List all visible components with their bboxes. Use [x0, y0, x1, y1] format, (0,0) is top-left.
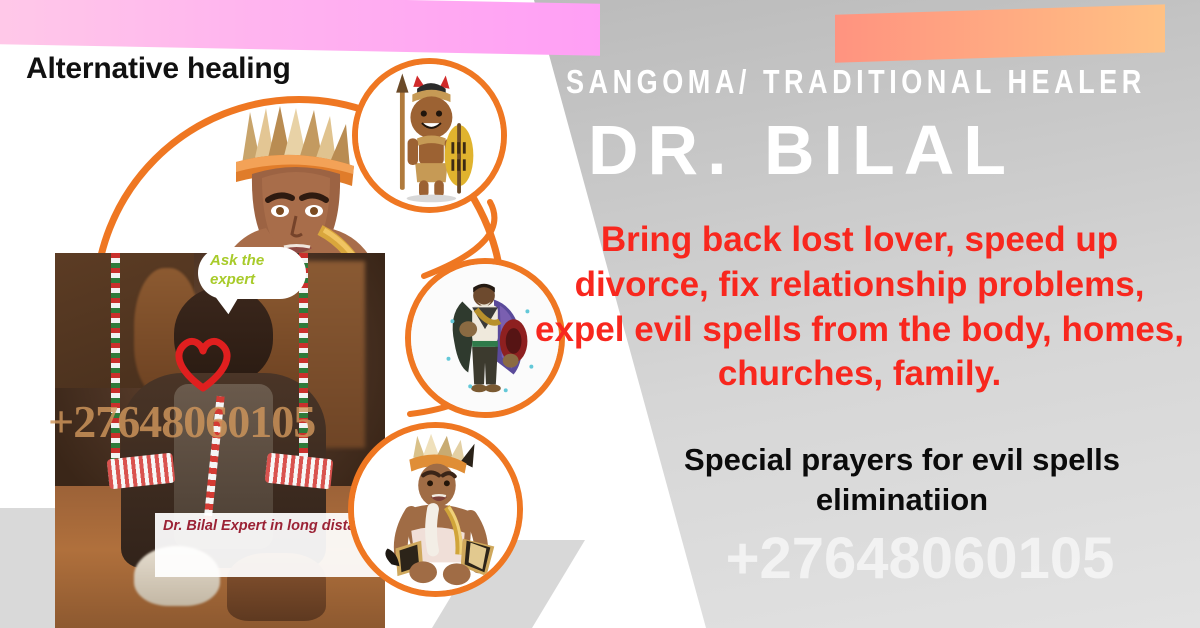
- photo-armband-left: [106, 452, 175, 489]
- circle-image-crouching-sangoma: [348, 422, 523, 597]
- special-prayers-text: Special prayers for evil spells eliminat…: [612, 440, 1192, 521]
- kicker-sangoma-traditional-healer: SANGOMA/ TRADITIONAL HEALER: [566, 63, 1066, 101]
- ghost-phone-number: +27648060105: [640, 525, 1200, 592]
- speech-bubble-tail: [215, 292, 245, 316]
- page-title-dr-bilal: DR. BILAL: [588, 110, 1188, 190]
- gray-block-bottom-left: [0, 508, 58, 628]
- speech-bubble: Ask the expert: [198, 247, 306, 299]
- heart-doodle-icon: [170, 332, 236, 392]
- pink-top-bar: [0, 0, 600, 56]
- photo-armband-right: [265, 452, 334, 489]
- speech-bubble-text: Ask the expert: [210, 252, 300, 290]
- alternative-healing-heading: Alternative healing: [26, 52, 291, 86]
- poster-canvas: Alternative healing: [0, 0, 1200, 628]
- circle-image-zulu-warrior: [352, 58, 507, 213]
- photo-watermark-phone: +27648060105: [48, 395, 315, 448]
- services-text: Bring back lost lover, speed up divorce,…: [532, 218, 1187, 397]
